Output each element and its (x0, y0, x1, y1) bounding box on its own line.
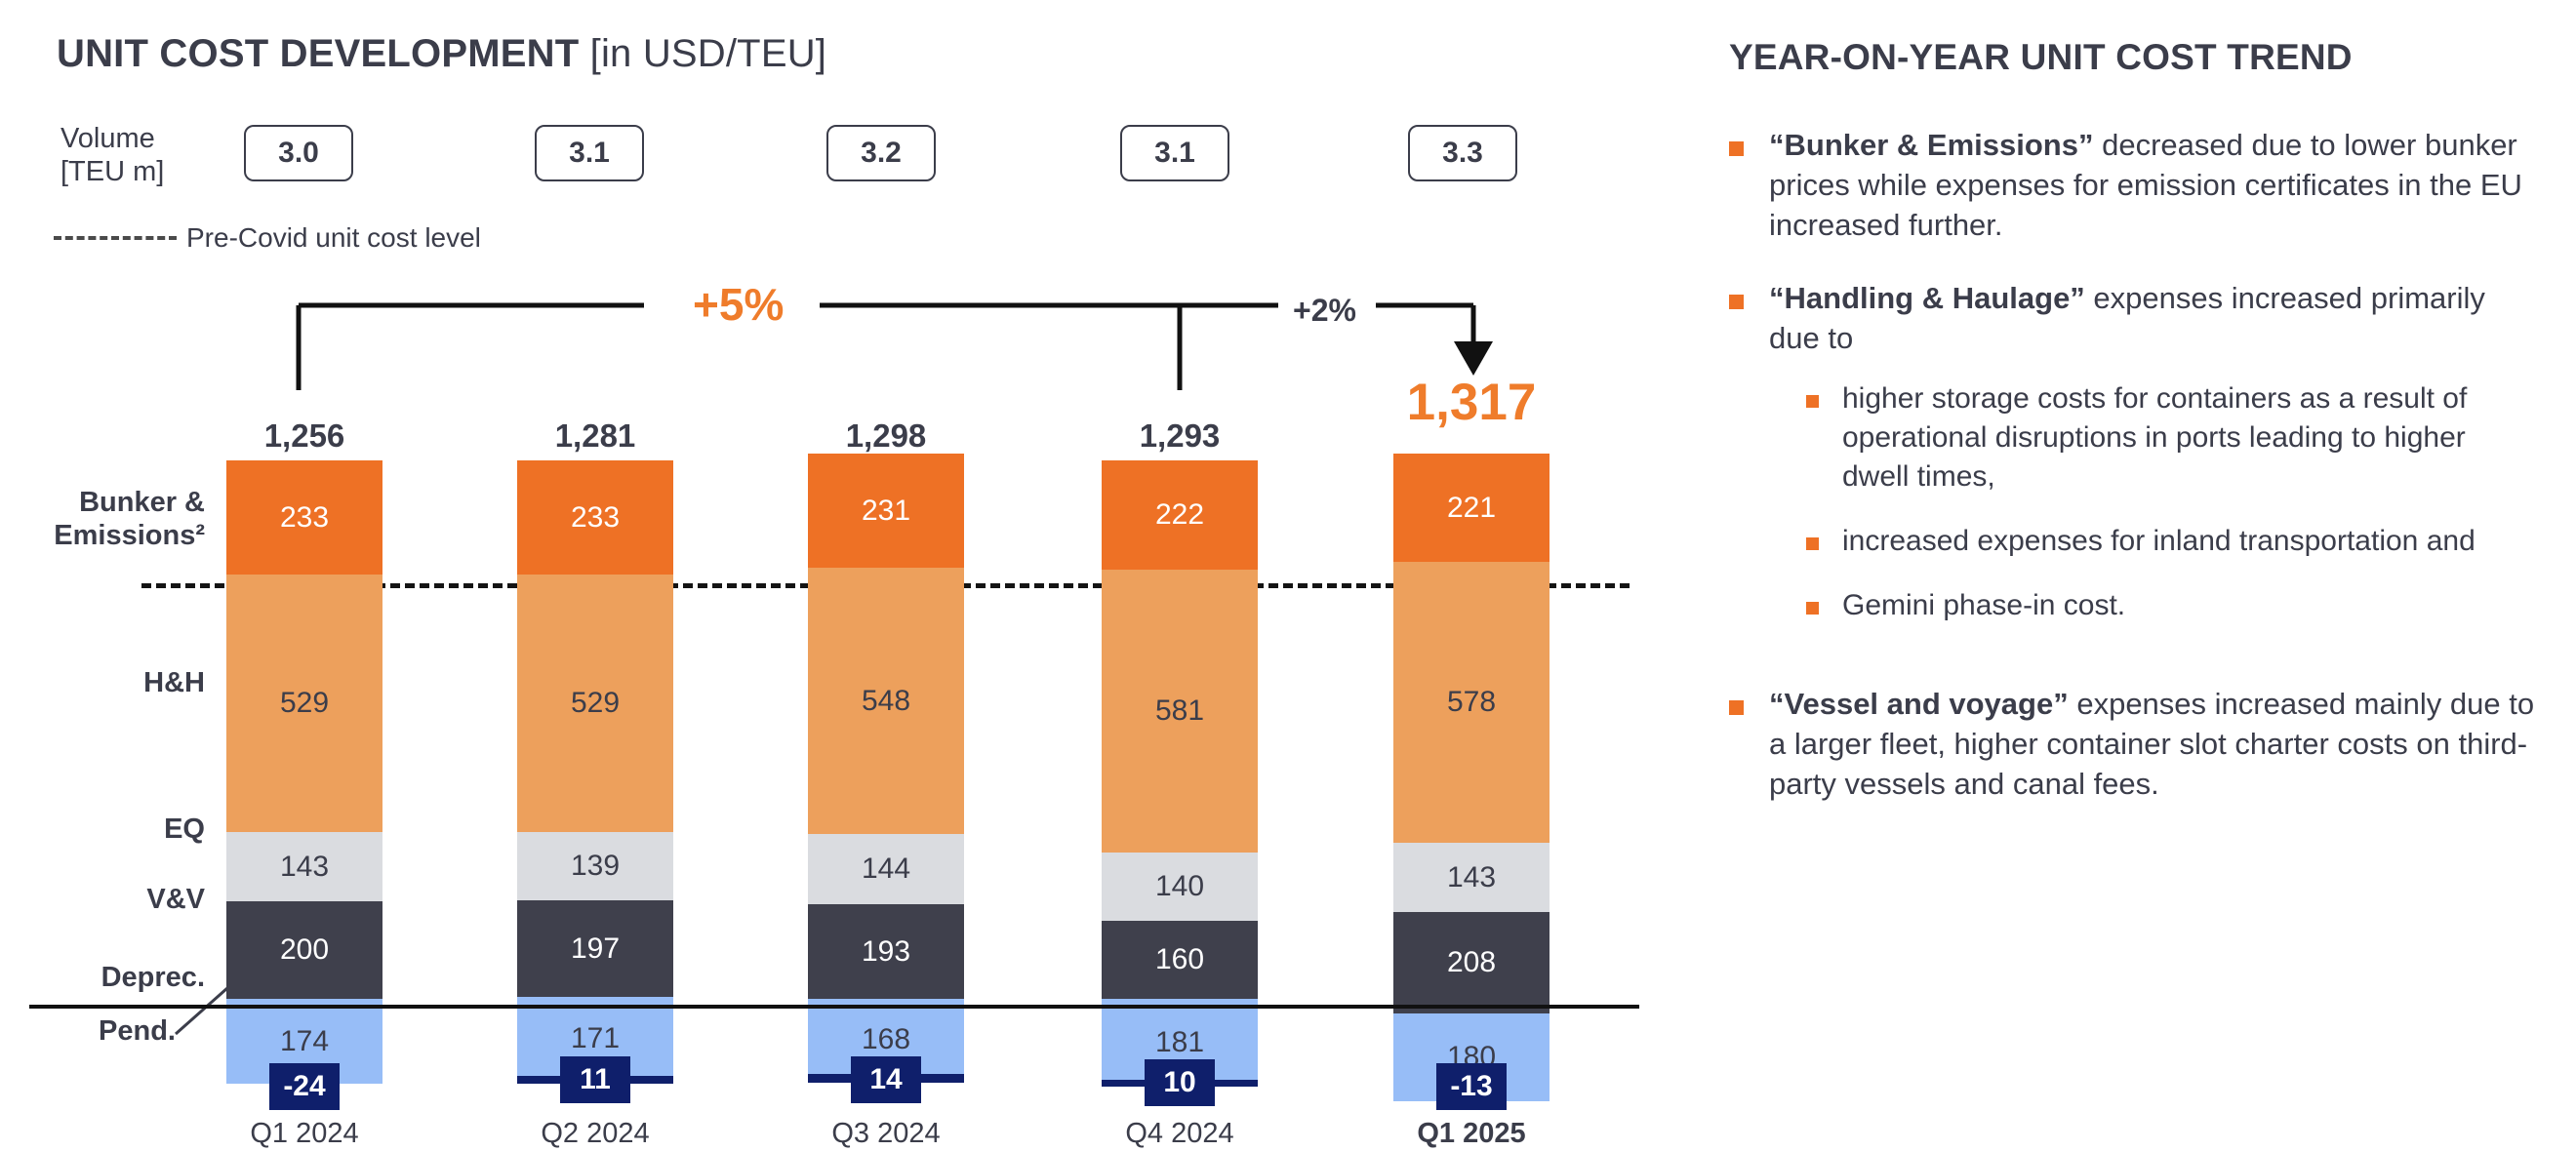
zero-baseline (29, 1005, 1639, 1009)
category-label-q4-2024: Q4 2024 (1033, 1118, 1326, 1150)
segment-hh-q4-2024: 581 (1102, 570, 1258, 853)
sub-bullet-item: Gemini phase-in cost. (1769, 586, 2539, 625)
segment-eq-q4-2024: 140 (1102, 853, 1258, 921)
segment-vv-q3-2024: 193 (808, 904, 964, 999)
sub-bullet-text: higher storage costs for containers as a… (1842, 379, 2539, 496)
segment-eq-q3-2024: 144 (808, 834, 964, 904)
segment-vv-q1-2025: 208 (1393, 912, 1550, 1013)
segment-eq-q2-2024: 139 (517, 832, 673, 900)
bar-group-q3-2024[interactable]: 1,298 231 548 144 193 168 14 Q3 2024 (808, 0, 964, 1151)
segment-hh-q1-2025: 578 (1393, 562, 1550, 843)
bar-total-q3-2024: 1,298 (759, 417, 1013, 455)
segment-pend-q2-2024: 11 (560, 1056, 630, 1103)
bar-total-q1-2024: 1,256 (178, 417, 431, 455)
bar-group-q1-2025[interactable]: 1,317 221 578 143 208 180 -13 Q1 2025 (1393, 0, 1550, 1151)
category-label-q3-2024: Q3 2024 (740, 1118, 1032, 1150)
bullet-item-bunker-emissions: “Bunker & Emissions” decreased due to lo… (1729, 125, 2539, 245)
segment-bunker-q3-2024: 231 (808, 454, 964, 568)
bullet-text: “Vessel and voyage” expenses increased m… (1769, 684, 2539, 804)
bullet-bold-lead: “Vessel and voyage” (1769, 687, 2069, 721)
commentary-bullet-list: “Bunker & Emissions” decreased due to lo… (1729, 125, 2539, 837)
segment-hh-q3-2024: 548 (808, 568, 964, 834)
bar-group-q1-2024[interactable]: 1,256 233 529 143 200 174 -24 Q1 2024 (226, 0, 382, 1151)
stacked-bar-plot: 1,256 233 529 143 200 174 -24 Q1 2024 1,… (0, 0, 1698, 1151)
segment-vv-q4-2024: 160 (1102, 921, 1258, 999)
segment-eq-q1-2025: 143 (1393, 843, 1550, 912)
sub-bullet-marker-icon (1806, 602, 1819, 615)
sub-bullet-list: higher storage costs for containers as a… (1769, 379, 2539, 625)
sub-bullet-marker-icon (1806, 395, 1819, 408)
bullet-marker-icon (1729, 295, 1744, 309)
bullet-text: “Handling & Haulage” expenses increased … (1769, 278, 2539, 358)
segment-pend-q4-2024: 10 (1145, 1059, 1215, 1106)
commentary-panel: YEAR-ON-YEAR UNIT COST TREND “Bunker & E… (1717, 0, 2576, 1151)
sub-bullet-marker-icon (1806, 537, 1819, 550)
category-label-q1-2024: Q1 2024 (158, 1118, 451, 1150)
bullet-marker-icon (1729, 141, 1744, 156)
bar-group-q2-2024[interactable]: 1,281 233 529 139 197 171 11 Q2 2024 (517, 0, 673, 1151)
sub-bullet-text: increased expenses for inland transporta… (1842, 522, 2475, 561)
segment-hh-q1-2024: 529 (226, 575, 382, 832)
bullet-bold-lead: “Bunker & Emissions” (1769, 128, 2093, 162)
segment-vv-q2-2024: 197 (517, 900, 673, 997)
unit-cost-chart-panel: UNIT COST DEVELOPMENT [in USD/TEU] Volum… (0, 0, 1698, 1151)
segment-hh-q2-2024: 529 (517, 575, 673, 832)
bullet-text: “Bunker & Emissions” decreased due to lo… (1769, 125, 2539, 245)
bullet-bold-lead: “Handling & Haulage” (1769, 281, 2085, 315)
segment-vv-q1-2024: 200 (226, 901, 382, 999)
bullet-item-vessel-voyage: “Vessel and voyage” expenses increased m… (1729, 684, 2539, 804)
bar-total-q2-2024: 1,281 (468, 417, 722, 455)
segment-eq-q1-2024: 143 (226, 832, 382, 901)
segment-bunker-q2-2024: 233 (517, 460, 673, 575)
bar-total-q4-2024: 1,293 (1053, 417, 1307, 455)
bullet-item-handling-haulage: “Handling & Haulage” expenses increased … (1729, 278, 2539, 651)
segment-pend-q3-2024: 14 (851, 1056, 921, 1103)
segment-bunker-q4-2024: 222 (1102, 460, 1258, 570)
category-label-q1-2025: Q1 2025 (1325, 1118, 1618, 1150)
bullet-marker-icon (1729, 700, 1744, 715)
segment-pend-q1-2025: -13 (1436, 1063, 1507, 1110)
segment-pend-q1-2024: -24 (269, 1063, 340, 1110)
segment-bunker-q1-2025: 221 (1393, 454, 1550, 562)
sub-bullet-item: higher storage costs for containers as a… (1769, 379, 2539, 496)
category-label-q2-2024: Q2 2024 (449, 1118, 742, 1150)
bar-total-q1-2025: 1,317 (1345, 373, 1598, 432)
sub-bullet-text: Gemini phase-in cost. (1842, 586, 2125, 625)
commentary-title: YEAR-ON-YEAR UNIT COST TREND (1729, 37, 2353, 78)
bar-group-q4-2024[interactable]: 1,293 222 581 140 160 181 10 Q4 2024 (1102, 0, 1258, 1151)
segment-bunker-q1-2024: 233 (226, 460, 382, 575)
sub-bullet-item: increased expenses for inland transporta… (1769, 522, 2539, 561)
